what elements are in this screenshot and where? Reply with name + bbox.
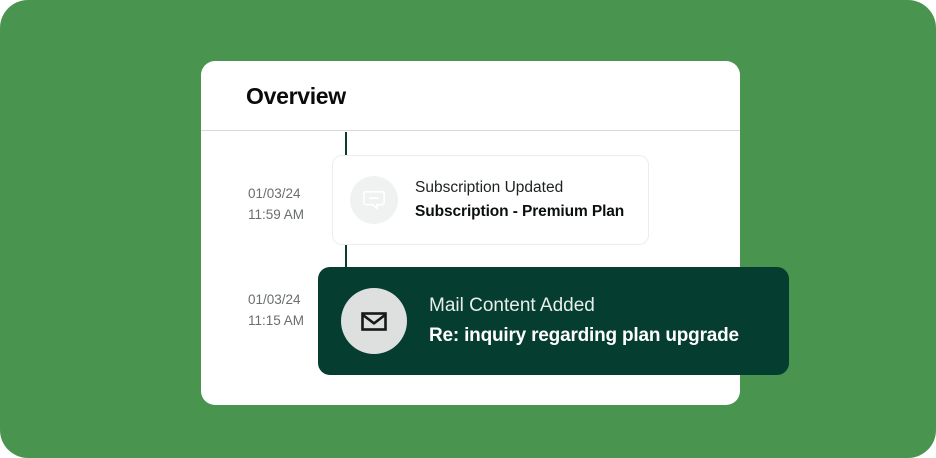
event-text-group: Mail Content Added Re: inquiry regarding…: [429, 291, 739, 351]
timeline-event-card[interactable]: Subscription Updated Subscription - Prem…: [332, 155, 649, 245]
avatar: [341, 288, 407, 354]
screenshot-canvas: Overview 01/03/24 11:59 AM Subscription …: [0, 0, 936, 458]
timeline-event-card-highlighted[interactable]: Mail Content Added Re: inquiry regarding…: [318, 267, 789, 375]
event-text-group: Subscription Updated Subscription - Prem…: [415, 176, 624, 224]
panel-header: Overview: [201, 61, 740, 131]
event-value: Subscription - Premium Plan: [415, 199, 624, 224]
event-label: Subscription Updated: [415, 176, 624, 199]
event-label: Mail Content Added: [429, 291, 739, 320]
avatar: [350, 176, 398, 224]
event-value: Re: inquiry regarding plan upgrade: [429, 320, 739, 351]
chat-bubble-icon: [361, 187, 387, 213]
envelope-icon: [358, 305, 390, 337]
page-title: Overview: [246, 83, 346, 110]
